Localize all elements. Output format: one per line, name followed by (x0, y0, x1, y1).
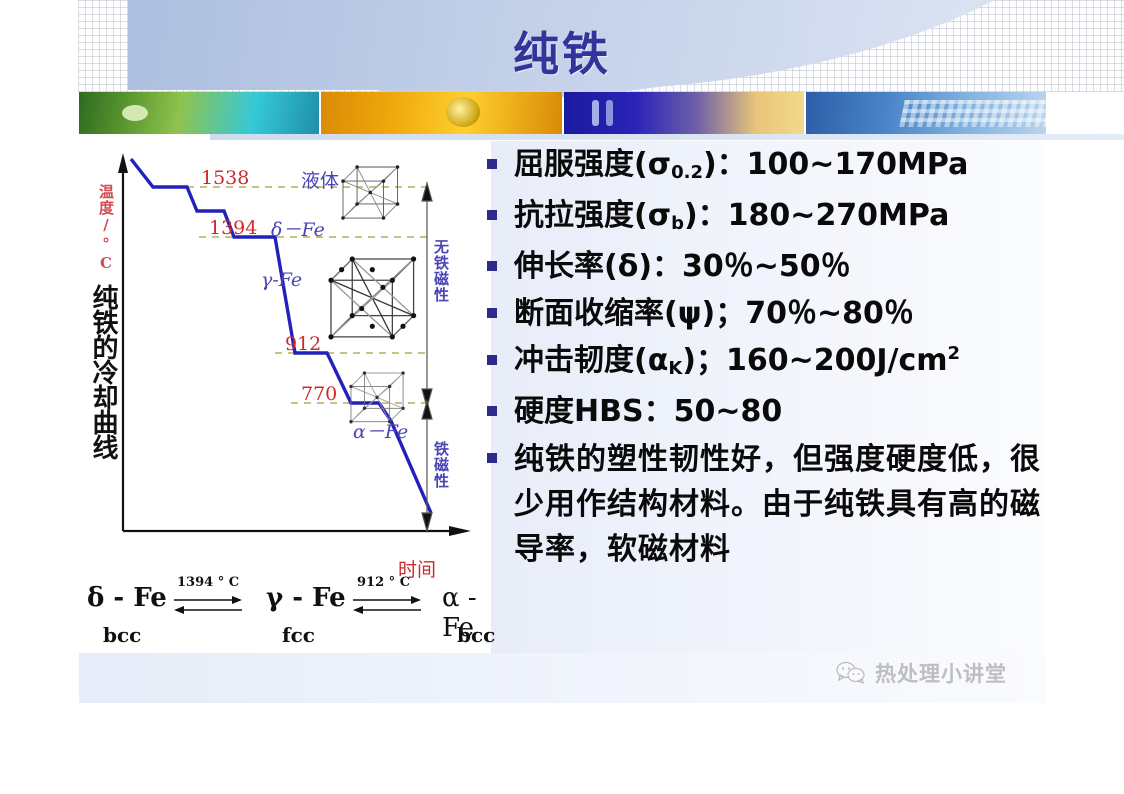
species-delta-fe: δ - Fe (87, 583, 167, 613)
bullet-marker-icon (487, 308, 497, 318)
lattice-bcc-delta: bcc (103, 623, 141, 647)
lattice-fcc-gamma: fcc (282, 623, 315, 647)
bullet-text: 伸长率(δ)：30％~50％ (514, 245, 851, 289)
label-ferromagnetic: 铁磁性 (431, 441, 452, 489)
header-bottom-bar (210, 134, 1124, 140)
strip-keyboard-mouse-photo (806, 92, 1046, 134)
watermark: 热处理小讲堂 (836, 658, 1007, 688)
bullet-impact-toughness: 冲击韧度(αK)；160~200J/cm2 (487, 339, 1047, 387)
left-margin-mask (0, 141, 79, 794)
strip-lab-tubes-photo (564, 92, 804, 134)
right-margin-mask (1046, 141, 1124, 794)
bullet-summary: 纯铁的塑性韧性好，但强度硬度低，很少用作结构材料。由于纯铁具有高的磁导率，软磁材… (487, 437, 1047, 572)
wechat-icon (836, 661, 866, 685)
phase-label-gamma-fe: γ-Fe (261, 269, 302, 291)
temp-label-1538: 1538 (201, 167, 249, 189)
y-axis-label: 温度/°C (96, 184, 117, 273)
label-non-ferromagnetic: 无铁磁性 (431, 239, 452, 303)
bullet-marker-icon (487, 406, 497, 416)
bullet-marker-icon (487, 261, 497, 271)
phase-label-delta-fe: δ－Fe (271, 215, 325, 242)
fcc-cube-gamma-icon (328, 256, 416, 339)
temp-label-770: 770 (301, 383, 337, 405)
bullet-marker-icon (487, 159, 497, 169)
bullet-text: 纯铁的塑性韧性好，但强度硬度低，很少用作结构材料。由于纯铁具有高的磁导率，软磁材… (514, 437, 1047, 572)
slide-root: 纯铁 屈服强度(σ0.2)：100~170MPa 抗拉强度(σb)：180~27… (0, 0, 1124, 794)
species-gamma-fe: γ - Fe (266, 583, 346, 613)
diagram-vertical-title: 纯铁的冷却曲线 (90, 284, 115, 459)
bullet-elongation: 伸长率(δ)：30％~50％ (487, 245, 1047, 289)
bullet-marker-icon (487, 453, 497, 463)
phase-label-alpha-fe: α－Fe (353, 417, 408, 444)
slide-header: 纯铁 (0, 0, 1124, 140)
bullet-text: 断面收缩率(ψ)；70％~80％ (514, 292, 914, 336)
bullet-reduction-of-area: 断面收缩率(ψ)；70％~80％ (487, 292, 1047, 336)
bullet-text: 冲击韧度(αK)；160~200J/cm2 (514, 339, 960, 387)
reaction-temp-912: 912 ° C (357, 575, 410, 590)
reaction-temp-1394: 1394 ° C (177, 575, 239, 590)
double-arrow-2-icon (351, 591, 423, 619)
lattice-bcc-alpha: bcc (457, 623, 495, 647)
bullet-list: 屈服强度(σ0.2)：100~170MPa 抗拉强度(σb)：180~270MP… (487, 143, 1047, 575)
temp-label-1394: 1394 (209, 217, 257, 239)
page-title: 纯铁 (0, 18, 1124, 84)
bullet-marker-icon (487, 210, 497, 220)
phase-transformation-equation: δ - Fe 1394 ° C γ - Fe 912 ° C α - Fe bc… (79, 575, 491, 660)
bullet-hardness: 硬度HBS：50~80 (487, 390, 1047, 434)
phase-label-liquid: 液体 (301, 166, 339, 193)
bullet-text: 硬度HBS：50~80 (514, 390, 782, 434)
watermark-text: 热处理小讲堂 (875, 658, 1007, 688)
double-arrow-1-icon (172, 591, 244, 619)
bcc-cube-delta-icon (341, 165, 399, 220)
bcc-cube-alpha-icon (349, 371, 404, 423)
bullet-marker-icon (487, 355, 497, 365)
strip-hard-disk-photo (321, 92, 561, 134)
header-photo-strip (79, 92, 1046, 134)
bullet-text: 抗拉强度(σb)：180~270MPa (514, 194, 949, 242)
cooling-curve-line (131, 159, 431, 513)
bullet-text: 屈服强度(σ0.2)：100~170MPa (514, 143, 968, 191)
temp-label-912: 912 (285, 333, 321, 355)
bullet-yield-strength: 屈服强度(σ0.2)：100~170MPa (487, 143, 1047, 191)
strip-mouse-monitor-photo (79, 92, 319, 134)
bullet-tensile-strength: 抗拉强度(σb)：180~270MPa (487, 194, 1047, 242)
